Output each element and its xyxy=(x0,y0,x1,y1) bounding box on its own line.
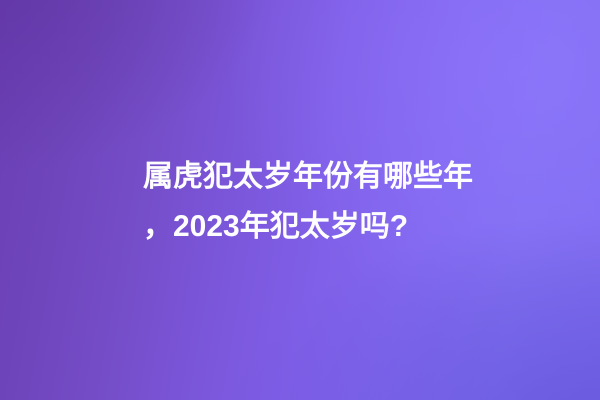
title-card: 属虎犯太岁年份有哪些年 ，2023年犯太岁吗? xyxy=(0,0,600,400)
title-line-1: 属虎犯太岁年份有哪些年 xyxy=(143,152,483,202)
page-title: 属虎犯太岁年份有哪些年 ，2023年犯太岁吗? xyxy=(143,152,483,252)
title-line-2: ，2023年犯太岁吗? xyxy=(143,202,483,252)
